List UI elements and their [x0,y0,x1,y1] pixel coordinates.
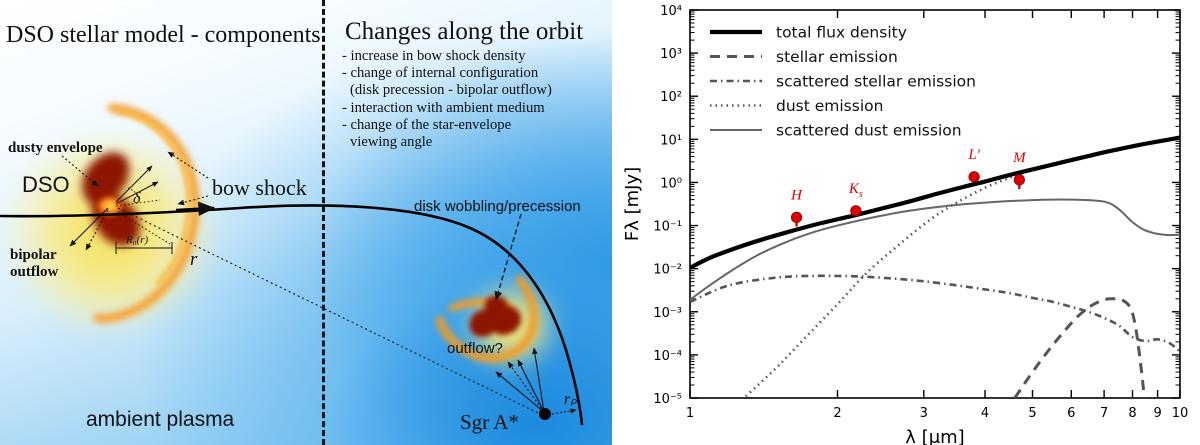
orbit-changes-title: Changes along the orbit [345,18,583,46]
disk-wobbling-pointer [496,214,521,300]
x-axis-title: λ [μm] [905,427,964,445]
series-scattered-dust-emission [690,200,1180,300]
bullet-item: - increase in bow shock density [342,48,604,65]
y-tick-label: 10⁻² [653,263,682,278]
y-tick-label: 10⁻¹ [653,220,682,235]
point-label-H: H [790,187,803,203]
schematic-title: DSO stellar model - components [6,22,321,49]
panel-divider [322,0,325,445]
label-orbital-radius: r [190,249,197,271]
bullet-item: - change of the star-envelope [342,117,604,134]
point-marker [791,212,801,222]
data-point-Ks [851,206,861,216]
orbit-changes-list: - increase in bow shock density - change… [342,48,604,151]
y-tick-label: 10⁻⁵ [653,392,682,407]
legend-label-2: scattered stellar emission [776,73,976,91]
chart-legend: total flux densitystellar emissionscatte… [710,24,976,140]
x-tick-label: 3 [920,406,928,421]
label-dso: DSO [22,172,70,198]
x-tick-label: 4 [981,406,989,421]
radius-vector-r [118,208,540,414]
sgr-a-star-marker [539,408,551,420]
legend-label-3: dust emission [776,97,883,115]
schematic-panel: DSO stellar model - components Changes a… [0,0,612,445]
x-tick-label: 6 [1067,406,1075,421]
legend-label-0: total flux density [776,24,907,42]
series-stellar-emission [1015,299,1146,408]
label-delta-angle: δ [133,190,140,208]
x-tick-label: 2 [833,406,841,421]
label-sgr-a-star: Sgr A* [460,410,519,435]
y-tick-label: 10⁻³ [653,306,682,321]
y-axis-title: Fλ [mJy] [622,167,643,241]
x-tick-label: 8 [1128,406,1136,421]
label-disk-wobbling: disk wobbling/precession [414,198,581,215]
point-label-Ks: Ks [848,181,863,200]
point-marker [1014,175,1024,185]
label-outflow-question: outflow? [447,340,503,357]
sed-chart-panel: 10⁻⁵10⁻⁴10⁻³10⁻²10⁻¹10⁰10¹10²10³10⁴12345… [612,0,1200,445]
label-ambient-plasma: ambient plasma [86,408,234,432]
bullet-item: - interaction with ambient medium [342,100,604,117]
label-bipolar-line1: bipolar [10,247,57,263]
label-dusty-envelope: dusty envelope [8,140,103,157]
series-group [690,138,1180,408]
x-tick-label: 10 [1172,406,1189,421]
perihelion-distance-measure [552,410,576,414]
y-tick-label: 10⁴ [660,4,682,19]
series-scattered-stellar-emission [690,276,1180,352]
data-point-L [969,172,979,182]
bullet-item: - change of internal configuration [342,65,604,82]
point-label-M: M [1012,150,1027,166]
figure-root: DSO stellar model - components Changes a… [0,0,1200,445]
point-marker [851,206,861,216]
label-perihelion-distance: rₚ [564,389,577,409]
legend-label-1: stellar emission [776,48,898,66]
label-bipolar-line2: outflow [10,264,58,280]
legend-label-4: scattered dust emission [776,122,962,140]
label-bipolar-outflow: bipolar outflow [10,247,58,281]
point-label-sub: s [859,189,863,200]
point-label-L: L' [967,147,980,163]
y-tick-label: 10² [660,90,682,105]
label-bow-shock: bow shock [212,175,307,201]
y-tick-label: 10⁻⁴ [653,349,682,364]
y-tick-label: 10³ [660,47,682,62]
x-tick-label: 7 [1100,406,1108,421]
label-standoff-radius: R₀(r) [126,234,148,246]
plot-frame [690,10,1180,398]
bullet-item: viewing angle [342,134,604,151]
point-marker [969,172,979,182]
x-tick-label: 9 [1153,406,1161,421]
sed-chart: 10⁻⁵10⁻⁴10⁻³10⁻²10⁻¹10⁰10¹10²10³10⁴12345… [612,0,1200,445]
y-tick-label: 10⁰ [660,176,682,191]
data-point-H [791,212,801,226]
bullet-item: (disk precession - bipolar outflow) [342,82,604,99]
data-point-M [1014,175,1024,189]
y-tick-label: 10¹ [660,133,682,148]
x-tick-label: 5 [1028,406,1036,421]
series-dust-emission [746,138,1180,397]
x-tick-label: 1 [686,406,694,421]
